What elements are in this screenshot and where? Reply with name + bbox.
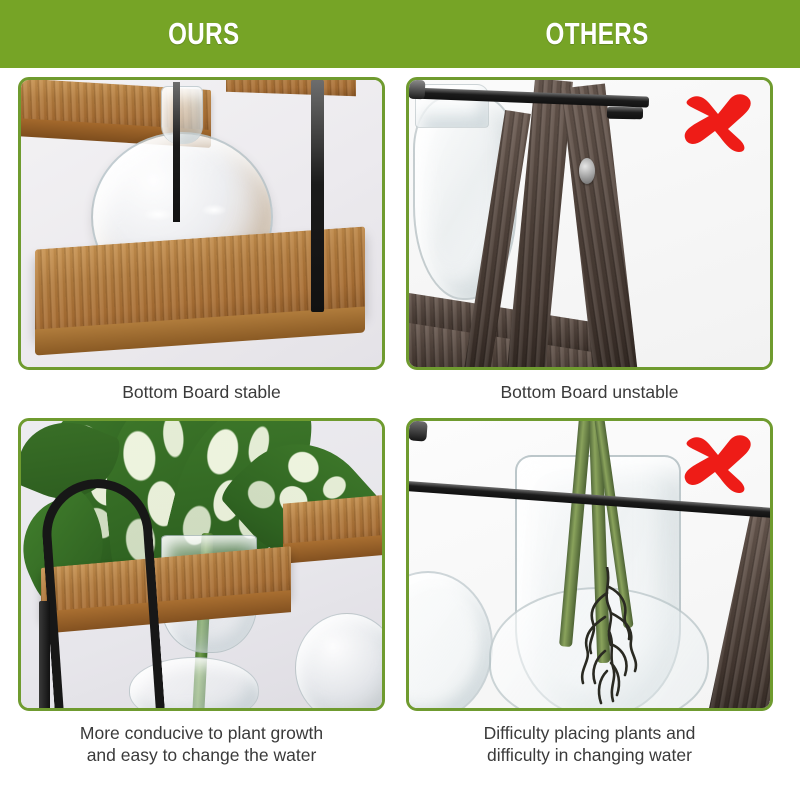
- caption-ours-bottom-board: Bottom Board stable: [18, 381, 385, 403]
- header-column-ours: OURS: [0, 0, 400, 68]
- panel-grid: Bottom Board stable: [0, 68, 800, 800]
- photo-ours-plant-growth: [18, 418, 385, 711]
- photo-ours-bottom-board: [18, 77, 385, 370]
- scene-wood-base-bulb: [21, 80, 382, 367]
- panel-ours-bottom-board: Bottom Board stable: [18, 77, 403, 403]
- caption-others-difficulty: Difficulty placing plants and difficulty…: [406, 722, 773, 766]
- rod-collar: [409, 421, 428, 442]
- comparison-infographic: OURS OTHERS: [0, 0, 800, 800]
- glass-vase-side: [409, 571, 493, 708]
- photo-others-difficulty: [406, 418, 773, 711]
- header-label-ours: OURS: [168, 16, 239, 52]
- dark-wood-board: [707, 513, 770, 708]
- metal-post: [311, 80, 324, 312]
- metal-hoop-frame: [39, 475, 165, 708]
- comparison-header: OURS OTHERS: [0, 0, 800, 68]
- rod-end-stub: [607, 107, 643, 120]
- caption-line: Bottom Board unstable: [406, 381, 773, 403]
- caption-line: Difficulty placing plants and: [406, 722, 773, 744]
- header-column-others: OTHERS: [400, 0, 800, 68]
- header-label-others: OTHERS: [545, 16, 648, 52]
- upper-shelf-right: [226, 80, 356, 96]
- caption-line: difficulty in changing water: [406, 744, 773, 766]
- red-x-icon: [682, 431, 756, 493]
- screw-head: [579, 158, 595, 184]
- glass-globe-right: [295, 613, 382, 708]
- plant-roots: [555, 567, 663, 707]
- caption-line: Bottom Board stable: [18, 381, 385, 403]
- glass-bulb-neck: [161, 86, 203, 144]
- scene-plant-on-shelf: [21, 421, 382, 708]
- metal-leg-left: [39, 601, 50, 708]
- metal-spike: [173, 82, 180, 222]
- photo-others-bottom-board: [406, 77, 773, 370]
- panel-others-difficulty: Difficulty placing plants and difficulty…: [406, 418, 791, 766]
- rod-collar: [409, 80, 425, 99]
- panel-others-bottom-board: Bottom Board unstable: [406, 77, 791, 403]
- panel-ours-plant-growth: More conducive to plant growth and easy …: [18, 418, 403, 766]
- highlight-left: [143, 208, 173, 221]
- caption-ours-plant-growth: More conducive to plant growth and easy …: [18, 722, 385, 766]
- caption-line: More conducive to plant growth: [18, 722, 385, 744]
- caption-others-bottom-board: Bottom Board unstable: [406, 381, 773, 403]
- red-x-icon: [682, 90, 756, 152]
- highlight-right: [201, 204, 227, 216]
- caption-line: and easy to change the water: [18, 744, 385, 766]
